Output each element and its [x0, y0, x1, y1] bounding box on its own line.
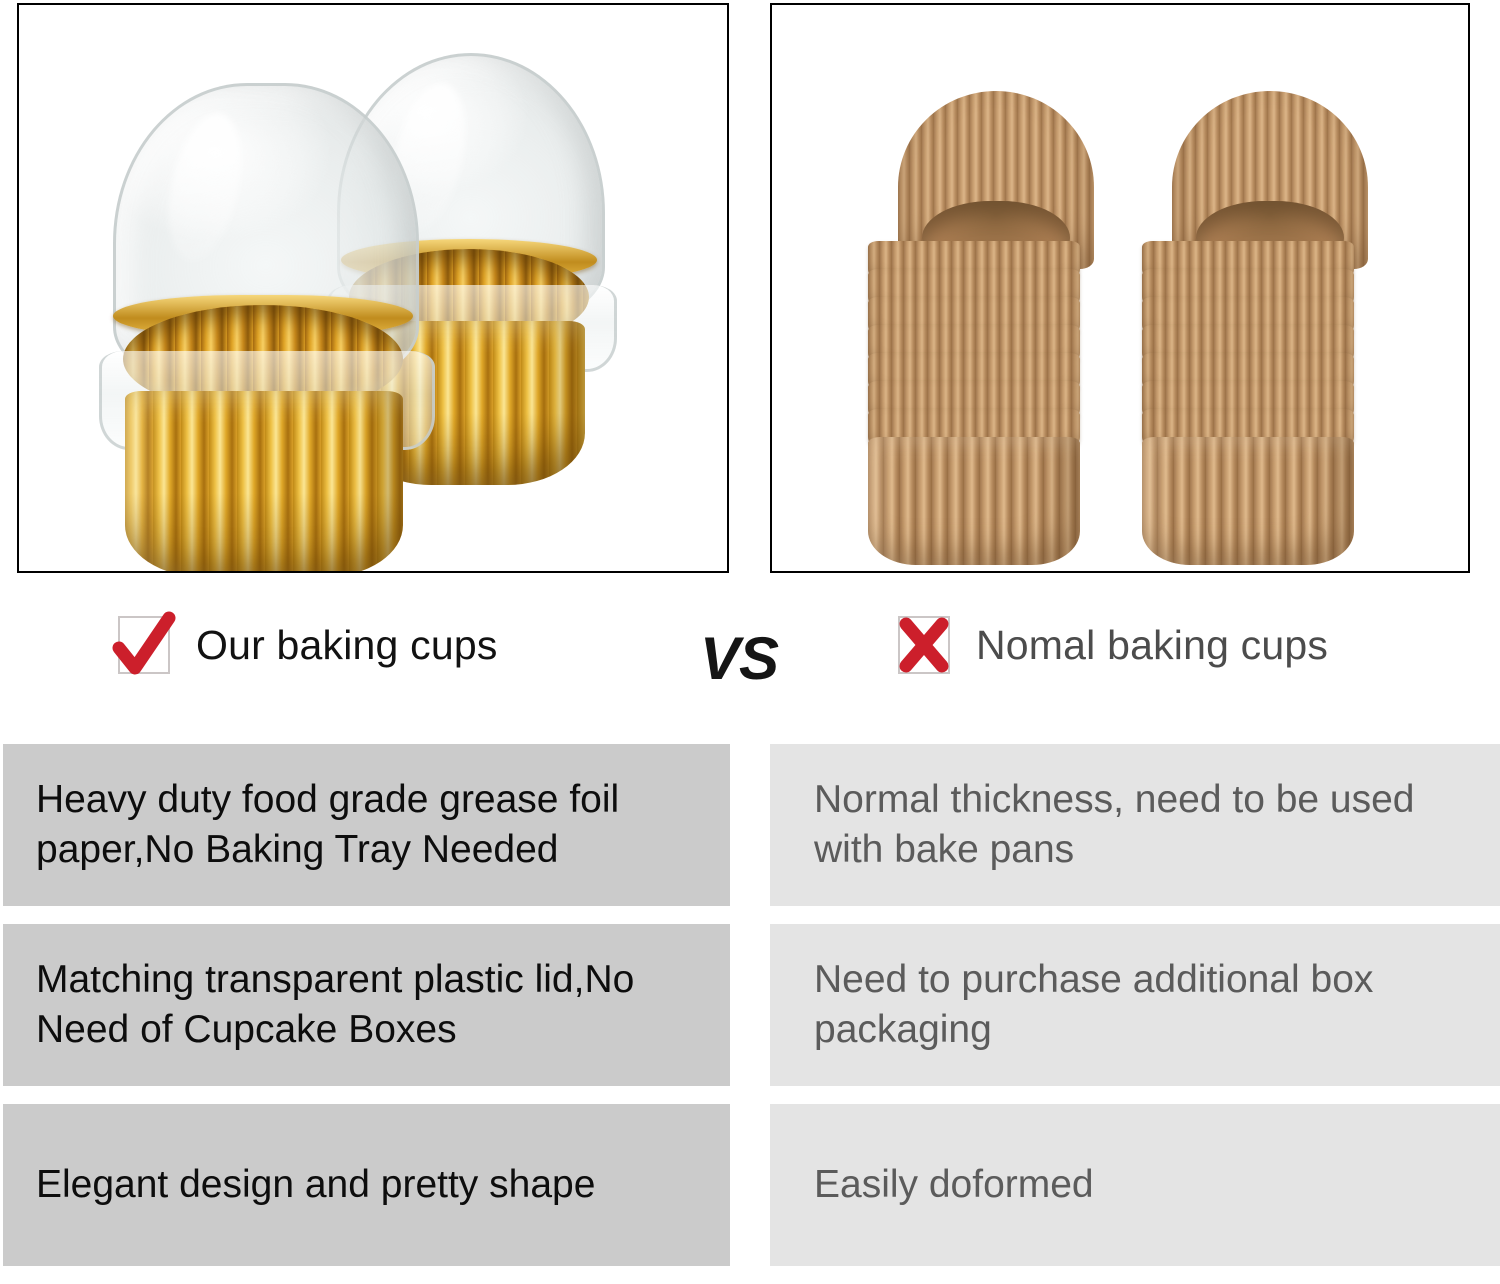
our-feature-bar-3: Elegant design and pretty shape [3, 1104, 730, 1266]
normal-feature-text-1: Normal thickness, need to be used with b… [814, 775, 1480, 875]
our-feature-text-2: Matching transparent plastic lid,No Need… [36, 955, 708, 1055]
normal-feature-bar-1: Normal thickness, need to be used with b… [770, 744, 1500, 906]
normal-feature-bar-3: Easily doformed [770, 1104, 1500, 1266]
normal-feature-text-3: Easily doformed [814, 1160, 1094, 1210]
comparison-header-row: Our baking cups VS Nomal baking cups [0, 596, 1500, 744]
header-normal-cups: Nomal baking cups [898, 616, 1328, 674]
check-icon [118, 616, 170, 674]
comparison-bars: Heavy duty food grade grease foil paper,… [0, 744, 1500, 1284]
our-feature-text-3: Elegant design and pretty shape [36, 1160, 595, 1210]
our-feature-text-1: Heavy duty food grade grease foil paper,… [36, 775, 708, 875]
comparison-row-1: Heavy duty food grade grease foil paper,… [0, 744, 1500, 906]
liner-bottom-cup [1142, 437, 1354, 565]
photo-panel-our-cups [17, 3, 729, 573]
our-feature-bar-1: Heavy duty food grade grease foil paper,… [3, 744, 730, 906]
comparison-row-2: Matching transparent plastic lid,No Need… [0, 924, 1500, 1086]
header-our-cups-label: Our baking cups [196, 625, 498, 666]
liner-bottom-cup [868, 437, 1080, 565]
normal-feature-bar-2: Need to purchase additional box packagin… [770, 924, 1500, 1086]
dome-highlight-front [157, 107, 253, 267]
photo-panel-normal-cups [770, 3, 1470, 573]
header-our-cups: Our baking cups [118, 616, 498, 674]
kraft-liner-column-left [868, 241, 1080, 565]
cup-shadow-front [125, 493, 403, 573]
normal-feature-text-2: Need to purchase additional box packagin… [814, 955, 1480, 1055]
comparison-row-3: Elegant design and pretty shape Easily d… [0, 1104, 1500, 1266]
kraft-liner-column-right [1142, 241, 1354, 565]
our-feature-bar-2: Matching transparent plastic lid,No Need… [3, 924, 730, 1086]
cross-icon [898, 616, 950, 674]
versus-label: VS [700, 624, 778, 693]
product-photo-row [0, 0, 1500, 580]
header-normal-cups-label: Nomal baking cups [976, 625, 1328, 666]
